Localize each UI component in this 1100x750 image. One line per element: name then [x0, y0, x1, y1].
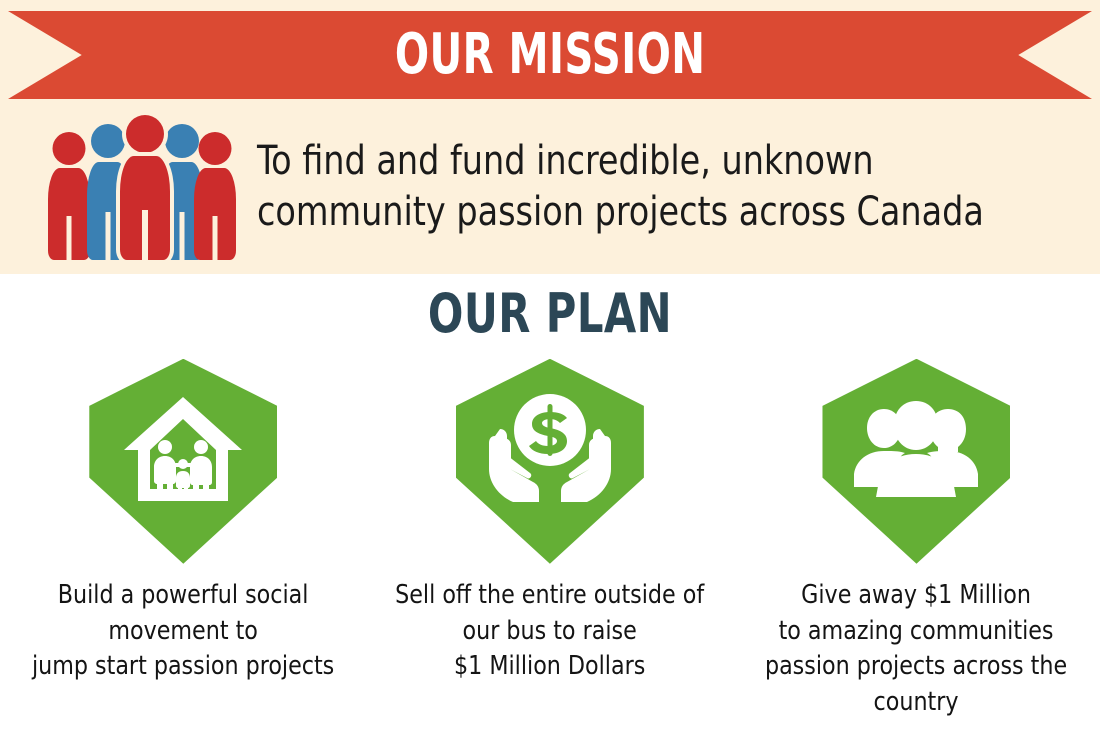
person-head: [199, 132, 232, 165]
plan-step-3-caption: Give away $1 Million to amazing communit…: [765, 578, 1067, 722]
person-head: [53, 132, 86, 165]
family-home-glyph: [124, 397, 242, 501]
person-figure-red-1: [48, 132, 90, 260]
person-body: [194, 168, 236, 260]
plan-step-2: Sell off the entire outside of our bus t…: [367, 359, 734, 722]
mission-banner-ribbon: OUR MISSION: [8, 11, 1092, 99]
plan-step-2-caption: Sell off the entire outside of our bus t…: [395, 578, 704, 686]
mission-banner-title: OUR MISSION: [395, 27, 706, 83]
person-figure-red-center: [120, 115, 170, 260]
hands-coin-glyph: [489, 390, 611, 508]
person-body: [120, 156, 170, 260]
community-group-shield-icon: [822, 359, 1010, 564]
person-body: [48, 168, 90, 260]
mission-body: To find and fund incredible, unknown com…: [0, 100, 1100, 274]
plan-step-1: Build a powerful social movement to jump…: [0, 359, 367, 722]
community-group-glyph: [854, 401, 978, 497]
plan-title: OUR PLAN: [77, 286, 1023, 343]
hands-holding-dollar-coin-shield-icon: [456, 359, 644, 564]
person-head: [126, 115, 164, 153]
person-figure-red-2: [194, 132, 236, 260]
plan-step-3: Give away $1 Million to amazing communit…: [733, 359, 1100, 722]
family-home-shield-icon: [89, 359, 277, 564]
group-of-people-icon: [48, 115, 233, 260]
plan-step-1-caption: Build a powerful social movement to jump…: [32, 578, 334, 686]
mission-statement: To find and fund incredible, unknown com…: [257, 136, 984, 238]
plan-section: OUR PLAN: [0, 274, 1100, 750]
plan-columns: Build a powerful social movement to jump…: [0, 359, 1100, 722]
mission-section: OUR MISSION: [0, 0, 1100, 274]
